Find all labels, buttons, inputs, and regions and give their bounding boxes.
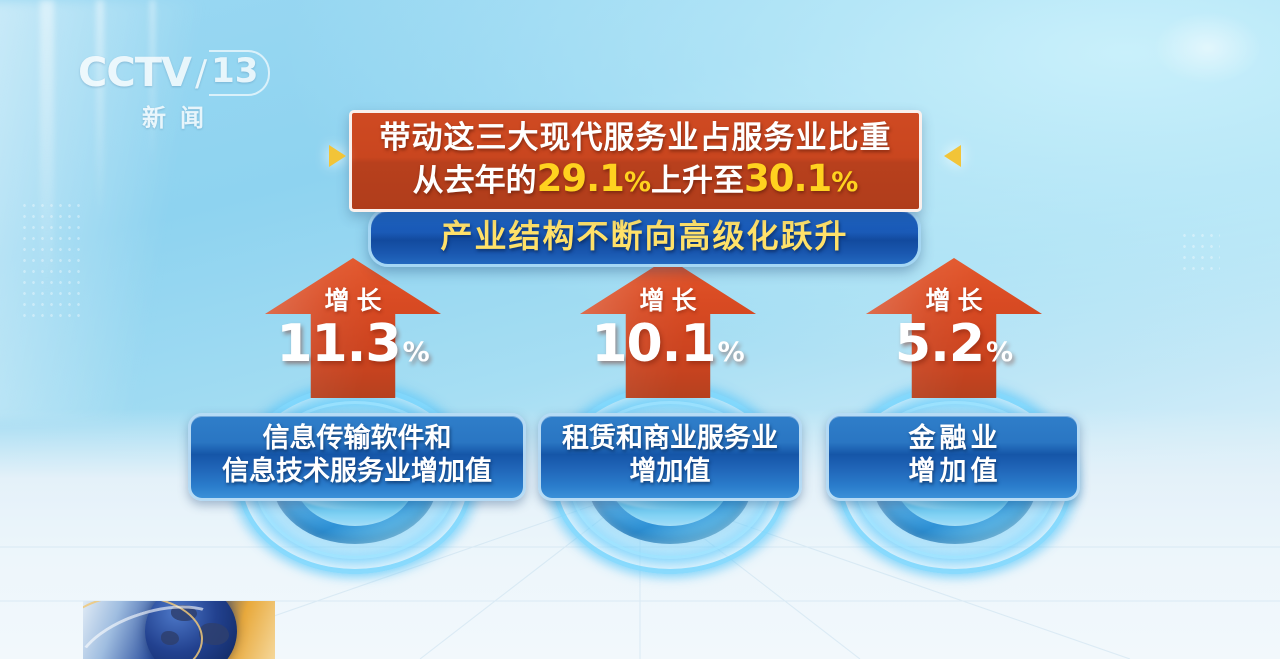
- headline-percent-previous: %: [624, 167, 651, 198]
- growth-arrow-1-text: 增长 11.3 %: [265, 258, 441, 398]
- growth-number-2: 10.1: [591, 318, 715, 370]
- category-label-2-line1: 租赁和商业服务业: [555, 423, 785, 456]
- globe-station-bug: [83, 601, 275, 659]
- background-dot-pattern: [1180, 230, 1220, 270]
- growth-label-1: 增长: [317, 288, 388, 313]
- logo-cctv-text: CCTV: [78, 50, 191, 96]
- subtitle-text: 产业结构不断向高级化跃升: [371, 217, 918, 255]
- growth-arrow-2-text: 增长 10.1 %: [580, 258, 756, 398]
- category-label-1-line2: 信息技术服务业增加值: [205, 456, 509, 489]
- growth-value-3: 5.2 %: [895, 318, 1013, 370]
- category-label-2-line2: 增加值: [555, 456, 785, 489]
- category-label-1: 信息传输软件和 信息技术服务业增加值: [188, 413, 526, 501]
- growth-number-1: 11.3: [276, 318, 400, 370]
- headline-prefix: 从去年的: [413, 163, 537, 199]
- background-dot-pattern: [20, 200, 80, 320]
- growth-arrow-2: 增长 10.1 %: [580, 258, 756, 398]
- growth-percent-2: %: [718, 339, 745, 366]
- headline-line-2: 从去年的29.1%上升至30.1%: [352, 157, 919, 201]
- headline-middle: 上升至: [651, 163, 744, 199]
- growth-value-2: 10.1 %: [591, 318, 744, 370]
- headline-percent-current: %: [831, 167, 858, 198]
- subtitle-banner: 产业结构不断向高级化跃升: [368, 208, 921, 267]
- logo-channel-number: 13: [209, 50, 270, 95]
- cctv13-channel-logo: CCTV / 13 新闻: [78, 50, 268, 133]
- growth-percent-3: %: [986, 339, 1013, 366]
- growth-label-3: 增长: [918, 288, 989, 313]
- category-label-3: 金融业 增加值: [826, 413, 1080, 501]
- growth-arrow-1: 增长 11.3 %: [265, 258, 441, 398]
- broadcast-infographic-screen: CCTV / 13 新闻 增长 11.3: [0, 0, 1280, 659]
- logo-subtitle-news: 新闻: [78, 98, 268, 133]
- growth-percent-1: %: [403, 339, 430, 366]
- category-label-2: 租赁和商业服务业 增加值: [538, 413, 802, 501]
- category-label-3-line1: 金融业: [843, 423, 1063, 456]
- growth-arrow-3: 增长 5.2 %: [866, 258, 1042, 398]
- growth-value-1: 11.3 %: [276, 318, 429, 370]
- headline-line-1: 带动这三大现代服务业占服务业比重: [352, 120, 919, 157]
- headline-value-current: 30.1: [744, 157, 831, 200]
- logo-main-row: CCTV / 13: [78, 50, 268, 96]
- category-label-1-line1: 信息传输软件和: [205, 423, 509, 456]
- growth-arrow-3-text: 增长 5.2 %: [866, 258, 1042, 398]
- play-triangle-left-icon: [944, 145, 961, 167]
- growth-number-3: 5.2: [895, 318, 984, 370]
- headline-value-previous: 29.1: [537, 157, 624, 200]
- headline-banner: 带动这三大现代服务业占服务业比重 从去年的29.1%上升至30.1%: [349, 110, 922, 212]
- logo-slash: /: [195, 53, 207, 94]
- category-label-3-line2: 增加值: [843, 456, 1063, 489]
- growth-label-2: 增长: [632, 288, 703, 313]
- play-triangle-right-icon: [329, 145, 346, 167]
